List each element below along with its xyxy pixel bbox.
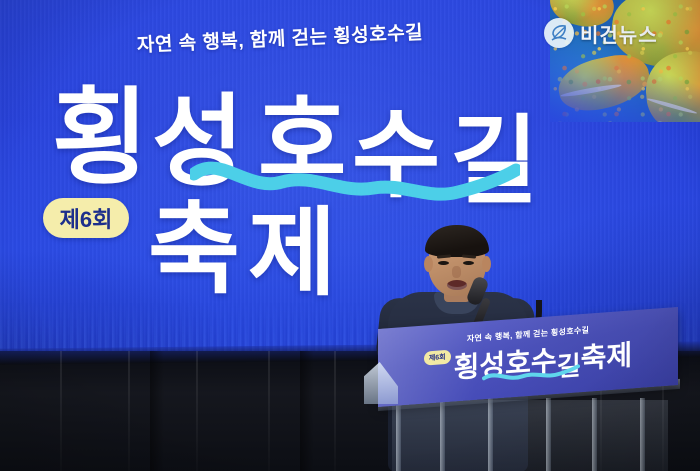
speaker-hair — [425, 225, 489, 257]
title-glyph-gil: 길 — [450, 114, 538, 210]
edition-badge: 제6회 — [43, 198, 129, 238]
title-glyph-hoeng: 횡 — [52, 86, 149, 191]
podium-word-chukje: 축제 — [581, 341, 633, 373]
drape-fold — [60, 351, 62, 471]
title-glyph-je: 제 — [248, 206, 336, 302]
speaker-mouth — [447, 280, 467, 290]
leaf-circle-icon — [544, 18, 574, 48]
drape-fold — [334, 351, 336, 471]
festival-stage-photo: 비건뉴스 자연 속 행복, 함께 걷는 횡성호수길 횡 성 호 수 길 축 제 … — [0, 0, 700, 471]
speaker-eye — [438, 261, 449, 265]
drape-shadow — [150, 351, 164, 471]
speaker-nose — [452, 266, 461, 278]
podium-leg — [546, 398, 551, 471]
title-glyph-seong: 성 — [152, 92, 244, 192]
drape-shadow — [300, 351, 314, 471]
speaker-eye — [463, 261, 474, 265]
drape-fold — [268, 351, 270, 471]
podium-leg — [640, 398, 645, 471]
watermark-text: 비건뉴스 — [580, 19, 658, 48]
drape-fold — [196, 351, 198, 471]
speaker-ear — [424, 256, 433, 272]
drape-fold — [128, 351, 130, 471]
podium-edition-badge: 제6회 — [424, 350, 451, 366]
title-glyph-su: 수 — [352, 108, 440, 204]
podium: 자연 속 행복, 함께 걷는 횡성호수길 제6회횡성호수길축제 — [378, 318, 700, 471]
podium-front-panel — [392, 400, 668, 471]
speaker-ear — [482, 256, 491, 272]
podium-leg — [488, 398, 493, 471]
podium-leg — [592, 398, 597, 471]
watermark: 비건뉴스 — [544, 18, 658, 48]
podium-leg — [440, 398, 445, 471]
title-glyph-ho: 호 — [258, 94, 346, 190]
title-glyph-chuk: 축 — [148, 200, 240, 300]
